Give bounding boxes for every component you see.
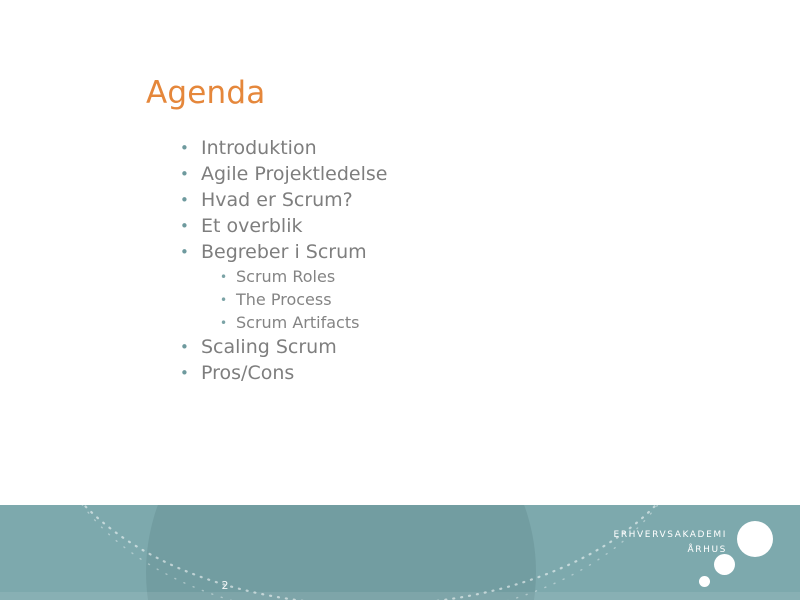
agenda-item-level-2: •Scrum Artifacts	[180, 312, 610, 335]
bullet-dot-icon: •	[180, 167, 201, 182]
agenda-item-level-1: •Scaling Scrum	[180, 335, 610, 361]
agenda-item-label: Hvad er Scrum?	[201, 188, 610, 212]
logo-line-academy: ERHVERVSAKADEMI	[560, 528, 727, 543]
agenda-item-label: Introduktion	[201, 136, 610, 160]
slide-page-number: 2	[205, 579, 245, 593]
agenda-item-level-2: •Scrum Roles	[180, 266, 610, 289]
agenda-item-level-1: •Introduktion	[180, 136, 610, 162]
slide-title: Agenda	[146, 74, 265, 112]
agenda-item-label: Begreber i Scrum	[201, 240, 610, 264]
bullet-dot-icon: •	[180, 366, 201, 381]
bullet-dot-icon: •	[180, 219, 201, 234]
agenda-item-label: The Process	[236, 289, 610, 310]
logo-circle-small-icon	[699, 576, 710, 587]
agenda-item-label: Scrum Roles	[236, 266, 610, 287]
agenda-item-level-2: •The Process	[180, 289, 610, 312]
agenda-item-label: Scaling Scrum	[201, 335, 610, 359]
agenda-item-level-1: •Agile Projektledelse	[180, 162, 610, 188]
logo-circle-medium-icon	[714, 554, 735, 575]
bullet-dot-icon: •	[180, 141, 201, 156]
bullet-dot-icon: •	[180, 340, 201, 355]
agenda-item-level-1: •Begreber i Scrum	[180, 240, 610, 266]
footer-bottom-strip	[0, 592, 800, 600]
agenda-item-label: Agile Projektledelse	[201, 162, 610, 186]
agenda-item-label: Et overblik	[201, 214, 610, 238]
presentation-slide: Agenda •Introduktion•Agile Projektledels…	[0, 0, 800, 600]
agenda-item-label: Pros/Cons	[201, 361, 610, 385]
agenda-item-level-1: •Pros/Cons	[180, 361, 610, 387]
bullet-dot-icon: •	[180, 193, 201, 208]
institution-logo: ERHVERVSAKADEMI ÅRHUS	[560, 528, 727, 558]
bullet-dot-icon: •	[180, 245, 201, 260]
agenda-item-label: Scrum Artifacts	[236, 312, 610, 333]
bullet-dot-icon: •	[220, 317, 236, 329]
agenda-list: •Introduktion•Agile Projektledelse•Hvad …	[180, 136, 610, 387]
agenda-item-level-1: •Et overblik	[180, 214, 610, 240]
bullet-dot-icon: •	[220, 294, 236, 306]
logo-circle-large-icon	[737, 521, 773, 557]
logo-line-city: ÅRHUS	[560, 543, 727, 558]
agenda-item-level-1: •Hvad er Scrum?	[180, 188, 610, 214]
bullet-dot-icon: •	[220, 271, 236, 283]
